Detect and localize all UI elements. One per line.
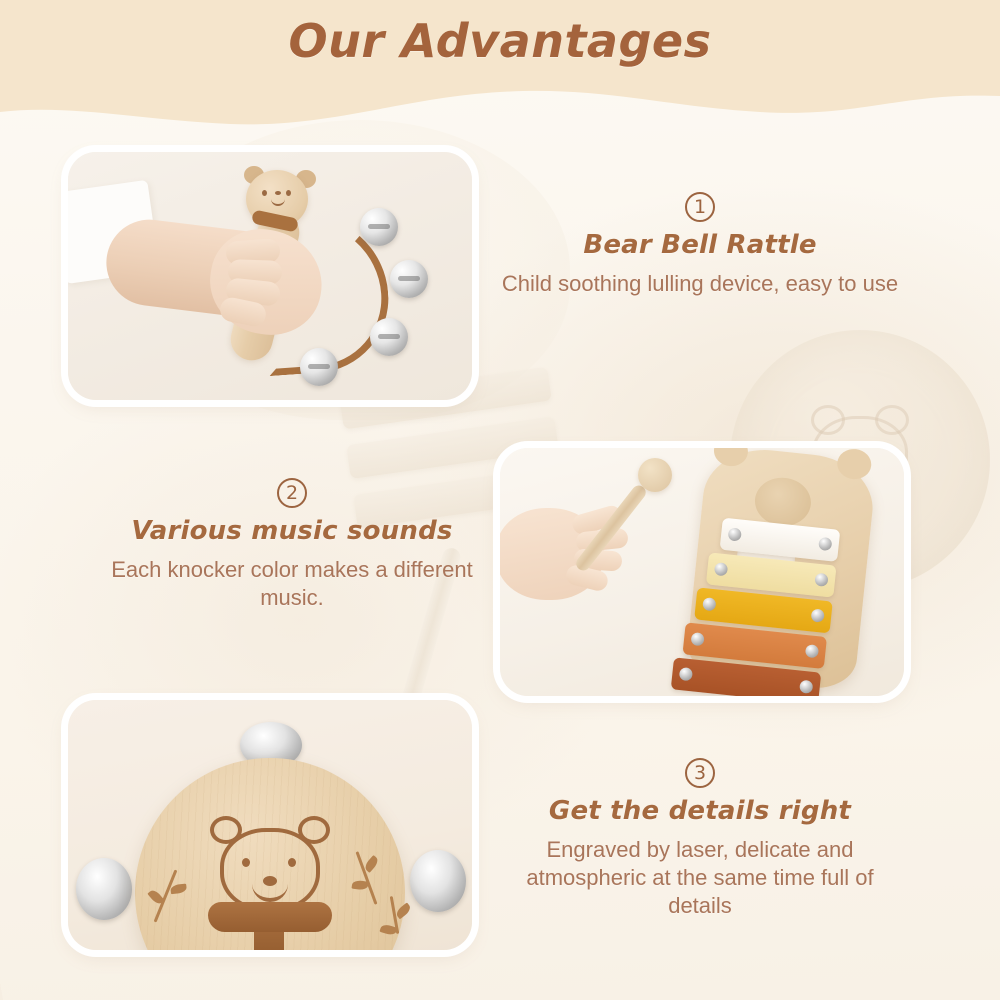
- bear-snout: [753, 475, 814, 529]
- xylophone-photo-scene: [500, 448, 904, 696]
- feature-number-badge: 2: [277, 478, 307, 508]
- jingle-disc: [410, 850, 466, 912]
- photo-card-tambourine: [68, 700, 472, 950]
- jingle-bell: [370, 318, 408, 356]
- jingle-bell: [390, 260, 428, 298]
- jingle-bell: [300, 348, 338, 386]
- photo-card-bear-bell-rattle: [68, 152, 472, 400]
- jingle-disc: [76, 858, 132, 920]
- photo-card-xylophone: [500, 448, 904, 696]
- infographic-page: Our Advantages: [0, 0, 1000, 1000]
- jingle-bell: [360, 208, 398, 246]
- feature-description: Engraved by laser, delicate and atmosphe…: [500, 836, 900, 920]
- bear-scarf: [208, 902, 332, 932]
- rattle-photo-scene: [68, 152, 472, 400]
- feature-title: Bear Bell Rattle: [500, 230, 900, 260]
- header: Our Advantages: [0, 0, 1000, 150]
- feature-number-badge: 1: [685, 192, 715, 222]
- xylophone-bear-body: [684, 448, 877, 692]
- mallet-head: [638, 458, 672, 492]
- page-title: Our Advantages: [0, 14, 1000, 68]
- bear-ear: [712, 448, 749, 468]
- feature-block-1: 1 Bear Bell Rattle Child soothing lullin…: [500, 192, 900, 298]
- feature-block-2: 2 Various music sounds Each knocker colo…: [92, 478, 492, 612]
- engraved-bear-artwork: [180, 828, 360, 946]
- feature-title: Various music sounds: [92, 516, 492, 546]
- feature-number-badge: 3: [685, 758, 715, 788]
- bear-eye: [288, 858, 296, 867]
- feature-block-3: 3 Get the details right Engraved by lase…: [500, 758, 900, 920]
- tambourine-photo-scene: [68, 700, 472, 950]
- bear-eye: [242, 858, 250, 867]
- bear-face: [260, 188, 296, 210]
- feature-description: Each knocker color makes a different mus…: [92, 556, 492, 612]
- feature-description: Child soothing lulling device, easy to u…: [500, 270, 900, 298]
- feature-title: Get the details right: [500, 796, 900, 826]
